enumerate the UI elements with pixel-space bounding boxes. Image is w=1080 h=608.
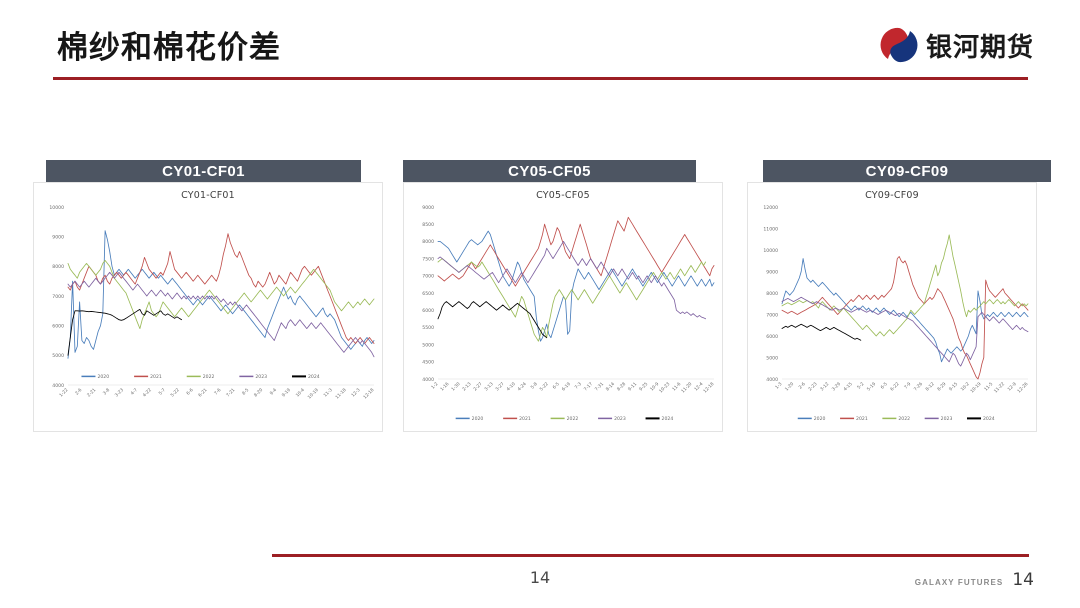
header-divider: [53, 77, 1028, 80]
legend-label-2020: 2020: [814, 416, 826, 422]
x-axis-tick: 9-19: [281, 387, 292, 398]
x-axis-tick: 3-13: [483, 381, 494, 392]
legend-label-2024: 2024: [983, 416, 995, 422]
footer-brand-text: GALAXY FUTURES: [915, 578, 1004, 587]
y-axis-tick: 8000: [766, 291, 778, 297]
x-axis-tick: 7-21: [225, 387, 236, 398]
y-axis-tick: 7000: [766, 312, 778, 318]
x-axis-tick: 3-29: [831, 381, 842, 392]
y-axis-tick: 11000: [763, 226, 778, 232]
x-axis-tick: 4-24: [516, 381, 527, 392]
legend-label-2024: 2024: [308, 374, 320, 380]
x-axis-tick: 9-4: [269, 387, 278, 396]
y-axis-tick: 8000: [422, 239, 434, 245]
series-line-2023: [68, 272, 374, 357]
x-axis-tick: 5-22: [169, 387, 180, 398]
legend-label-2021: 2021: [150, 374, 162, 380]
y-axis-tick: 5500: [422, 325, 434, 331]
x-axis-tick: 1-20: [784, 381, 795, 392]
series-line-2020: [782, 259, 1028, 362]
y-axis-tick: 4000: [52, 383, 64, 389]
panel-title-text: CY05-CF05: [508, 163, 591, 180]
page-title: 棉纱和棉花价差: [57, 22, 281, 67]
chart-svg: 4000500060007000800090001000011000120001…: [748, 201, 1038, 425]
legend-label-2020: 2020: [97, 374, 109, 380]
legend-label-2024: 2024: [662, 416, 674, 422]
y-axis-tick: 12000: [763, 205, 778, 211]
x-axis-tick: 8-29: [936, 381, 947, 392]
y-axis-tick: 7000: [422, 274, 434, 280]
panel-title-band: CY09-CF09: [763, 160, 1051, 182]
x-axis-tick: 12-18: [362, 387, 375, 400]
legend-label-2021: 2021: [519, 416, 531, 422]
galaxy-s-mark-icon: [880, 26, 918, 64]
y-axis-tick: 9000: [766, 269, 778, 275]
x-axis-tick: 7-6: [213, 387, 222, 396]
x-axis-tick: 11-3: [322, 387, 333, 398]
series-line-2022: [68, 260, 374, 328]
x-axis-tick: 11-22: [993, 381, 1006, 394]
chart-title: CY05-CF05: [404, 183, 722, 201]
x-axis-tick: 12-26: [1016, 381, 1029, 394]
x-axis-tick: 6-5: [880, 381, 889, 390]
series-line-2020: [438, 231, 714, 341]
x-axis-tick: 9-11: [627, 381, 638, 392]
brand-logo: 银河期货: [880, 26, 1034, 64]
x-axis-tick: 2-23: [807, 381, 818, 392]
x-axis-tick: 5-7: [158, 387, 167, 396]
chart-svg: 4000450050005500600065007000750080008500…: [404, 201, 724, 425]
x-axis-tick: 4-10: [505, 381, 516, 392]
brand-name: 银河期货: [926, 27, 1034, 64]
series-line-2024: [68, 309, 182, 355]
x-axis-tick: 7-3: [574, 381, 583, 390]
legend-label-2022: 2022: [203, 374, 215, 380]
chart-svg: 400050006000700080009000100001-222-62-21…: [34, 201, 384, 425]
x-axis-tick: 5-19: [866, 381, 877, 392]
y-axis-tick: 10000: [763, 248, 778, 254]
x-axis-tick: 8-28: [616, 381, 627, 392]
x-axis-tick: 12-3: [350, 387, 361, 398]
y-axis-tick: 7000: [52, 294, 64, 300]
x-axis-tick: 7-9: [903, 381, 912, 390]
x-axis-tick: 11-20: [680, 381, 693, 394]
panel-title-band: CY01-CF01: [46, 160, 361, 182]
x-axis-tick: 3-23: [114, 387, 125, 398]
x-axis-tick: 3-8: [102, 387, 111, 396]
x-axis-tick: 8-14: [605, 381, 616, 392]
x-axis-tick: 9-25: [638, 381, 649, 392]
x-axis-tick: 2-27: [472, 381, 483, 392]
chart-box: CY05-CF054000450050005500600065007000750…: [403, 182, 723, 432]
y-axis-tick: 9000: [422, 205, 434, 211]
y-axis-tick: 4500: [422, 360, 434, 366]
x-axis-tick: 7-31: [594, 381, 605, 392]
x-axis-tick: 1-30: [450, 381, 461, 392]
x-axis-tick: 6-22: [889, 381, 900, 392]
x-axis-tick: 5-22: [539, 381, 550, 392]
y-axis-tick: 5000: [422, 342, 434, 348]
y-axis-tick: 5000: [766, 355, 778, 361]
x-axis-tick: 4-22: [142, 387, 153, 398]
x-axis-tick: 8-5: [241, 387, 250, 396]
chart-box: CY09-CF094000500060007000800090001000011…: [747, 182, 1037, 432]
y-axis-tick: 4000: [766, 377, 778, 383]
legend-label-2022: 2022: [567, 416, 579, 422]
x-axis-tick: 3-12: [819, 381, 830, 392]
x-axis-tick: 12-18: [702, 381, 715, 394]
footer-brand: GALAXY FUTURES 14: [915, 570, 1034, 590]
y-axis-tick: 7500: [422, 256, 434, 262]
chart-box: CY01-CF01400050006000700080009000100001-…: [33, 182, 383, 432]
legend-label-2023: 2023: [614, 416, 626, 422]
x-axis-tick: 6-19: [561, 381, 572, 392]
chart-panel-cy09-cf09: CY09-CF09CY09-CF094000500060007000800090…: [747, 160, 1051, 432]
x-axis-tick: 10-19: [307, 387, 320, 400]
y-axis-tick: 6000: [52, 323, 64, 329]
chart-title: CY09-CF09: [748, 183, 1036, 201]
legend-label-2022: 2022: [898, 416, 910, 422]
x-axis-tick: 5-2: [856, 381, 865, 390]
legend-label-2020: 2020: [472, 416, 484, 422]
y-axis-tick: 6000: [766, 334, 778, 340]
x-axis-tick: 2-13: [461, 381, 472, 392]
series-line-2021: [68, 234, 374, 344]
chart-panel-cy05-cf05: CY05-CF05CY05-CF054000450050005500600065…: [403, 160, 723, 432]
x-axis-tick: 7-17: [583, 381, 594, 392]
x-axis-tick: 2-21: [86, 387, 97, 398]
y-axis-tick: 5000: [52, 353, 64, 359]
footer-brand-number: 14: [1012, 570, 1034, 590]
x-axis-tick: 2-6: [74, 387, 83, 396]
x-axis-tick: 6-5: [552, 381, 561, 390]
x-axis-tick: 5-8: [530, 381, 539, 390]
x-axis-tick: 8-20: [253, 387, 264, 398]
x-axis-tick: 2-6: [798, 381, 807, 390]
x-axis-tick: 11-18: [334, 387, 347, 400]
y-axis-tick: 6000: [422, 308, 434, 314]
series-line-2024: [782, 324, 861, 340]
footer-divider: [272, 554, 1029, 557]
x-axis-tick: 7-26: [913, 381, 924, 392]
y-axis-tick: 6500: [422, 291, 434, 297]
x-axis-tick: 10-23: [658, 381, 671, 394]
x-axis-tick: 9-15: [948, 381, 959, 392]
x-axis-tick: 10-4: [295, 387, 306, 398]
y-axis-tick: 8000: [52, 264, 64, 270]
legend-label-2023: 2023: [941, 416, 953, 422]
x-axis-tick: 3-27: [494, 381, 505, 392]
x-axis-tick: 8-12: [924, 381, 935, 392]
y-axis-tick: 9000: [52, 234, 64, 240]
x-axis-tick: 1-16: [439, 381, 450, 392]
legend-label-2021: 2021: [856, 416, 868, 422]
series-line-2024: [438, 302, 547, 338]
x-axis-tick: 10-19: [969, 381, 982, 394]
y-axis-tick: 10000: [49, 205, 64, 211]
series-line-2020: [68, 231, 374, 359]
x-axis-tick: 6-6: [185, 387, 194, 396]
panel-title-band: CY05-CF05: [403, 160, 696, 182]
x-axis-tick: 6-21: [197, 387, 208, 398]
slide-header: 棉纱和棉花价差 银河期货: [0, 0, 1080, 92]
series-line-2021: [782, 257, 1028, 380]
x-axis-tick: 4-7: [130, 387, 139, 396]
x-axis-tick: 4-15: [842, 381, 853, 392]
y-axis-tick: 8500: [422, 222, 434, 228]
panel-title-text: CY09-CF09: [866, 163, 949, 180]
y-axis-tick: 4000: [422, 377, 434, 383]
panel-title-text: CY01-CF01: [162, 163, 245, 180]
chart-title: CY01-CF01: [34, 183, 382, 201]
legend-label-2023: 2023: [255, 374, 267, 380]
chart-panel-cy01-cf01: CY01-CF01CY01-CF014000500060007000800090…: [33, 160, 383, 432]
